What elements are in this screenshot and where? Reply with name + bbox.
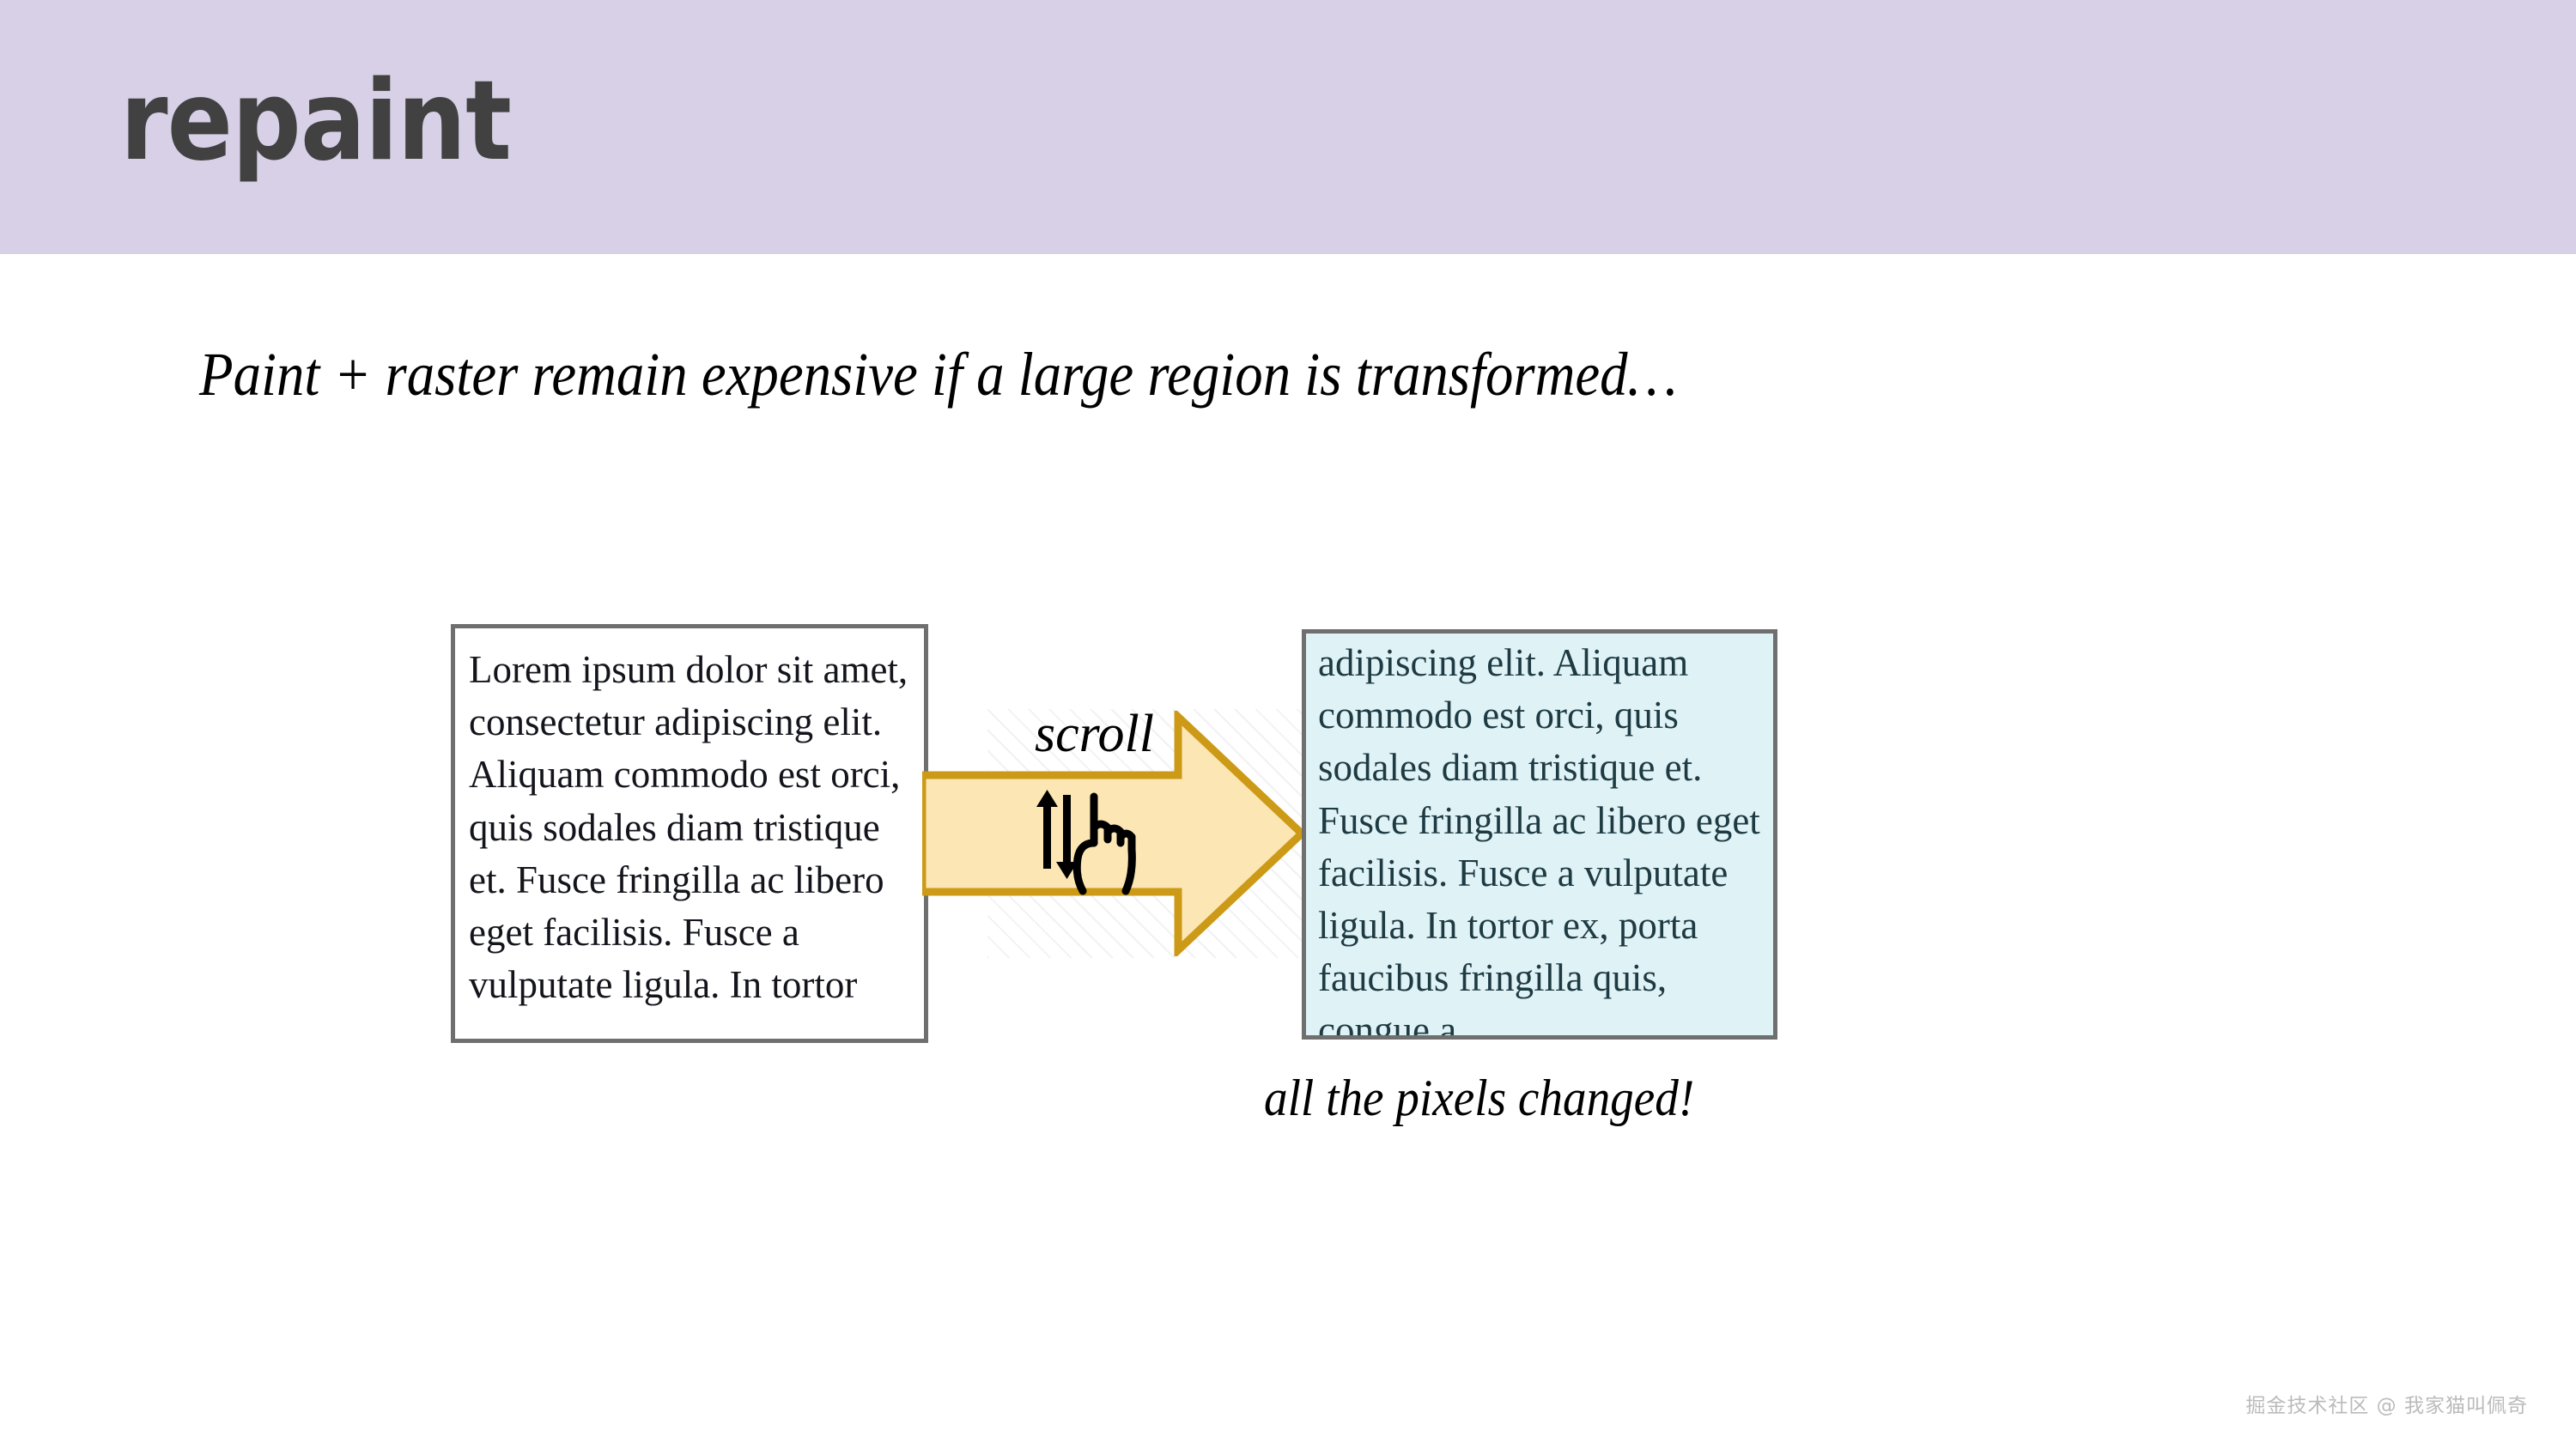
diagram-region: Lorem ipsum dolor sit amet, consectetur …: [0, 0, 2576, 1449]
slide-canvas: repaint Paint + raster remain expensive …: [0, 0, 2576, 1449]
scroll-gesture-icon: [1029, 790, 1145, 901]
after-scroll-text: adipiscing elit. Aliquam commodo est orc…: [1318, 637, 1761, 1040]
before-scroll-text: Lorem ipsum dolor sit amet, consectetur …: [469, 644, 910, 1011]
watermark: 掘金技术社区 @ 我家猫叫佩奇: [2245, 1389, 2528, 1418]
after-scroll-text-box: adipiscing elit. Aliquam commodo est orc…: [1302, 629, 1777, 1040]
scroll-arrow-label: scroll: [1035, 704, 1154, 765]
diagram-caption: all the pixels changed!: [1264, 1069, 1694, 1128]
before-scroll-text-box: Lorem ipsum dolor sit amet, consectetur …: [451, 624, 928, 1043]
